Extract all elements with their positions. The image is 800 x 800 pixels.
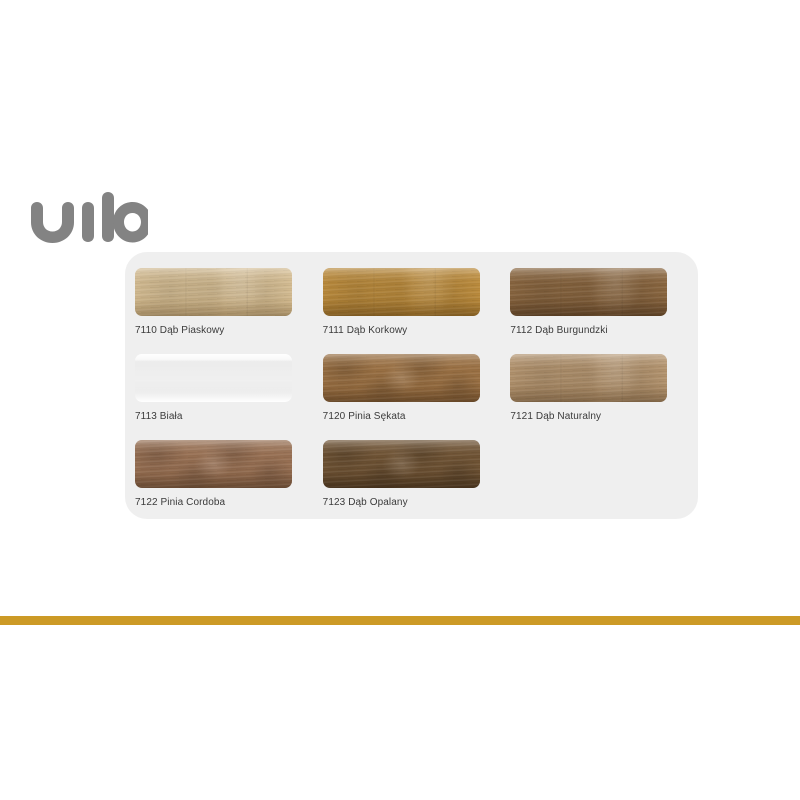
panel-sheen <box>510 354 667 402</box>
swatch-label-7120: 7120 Pinia Sękata <box>323 411 511 422</box>
swatch-label-7121: 7121 Dąb Naturalny <box>510 411 698 422</box>
swatch-chip-7113[interactable] <box>135 354 292 402</box>
swatch-chip-7111[interactable] <box>323 268 480 316</box>
swatch-chip-7120[interactable] <box>323 354 480 402</box>
swatch-chip-7112[interactable] <box>510 268 667 316</box>
panel-sheen <box>323 354 480 402</box>
swatch-label-7110: 7110 Dąb Piaskowy <box>135 325 323 336</box>
swatch-label-7123: 7123 Dąb Opalany <box>323 497 511 508</box>
swatch-cell-7121[interactable]: 7121 Dąb Naturalny <box>510 354 698 440</box>
swatch-label-7111: 7111 Dąb Korkowy <box>323 325 511 336</box>
vilo-logo <box>28 192 148 254</box>
swatch-chip-7110[interactable] <box>135 268 292 316</box>
swatch-cell-7110[interactable]: 7110 Dąb Piaskowy <box>135 268 323 354</box>
vilo-logo-wordmark <box>28 192 148 254</box>
swatch-cell-7112[interactable]: 7112 Dąb Burgundzki <box>510 268 698 354</box>
swatch-row: 7122 Pinia Cordoba 7123 Dąb Opalany <box>135 440 698 526</box>
panel-sheen <box>135 440 292 488</box>
swatch-label-7112: 7112 Dąb Burgundzki <box>510 325 698 336</box>
gloss-sheen <box>135 354 292 402</box>
swatch-cell-7111[interactable]: 7111 Dąb Korkowy <box>323 268 511 354</box>
swatch-row: 7113 Biała 7120 Pinia Sękata 7121 Dąb Na… <box>135 354 698 440</box>
swatch-cell-7113[interactable]: 7113 Biała <box>135 354 323 440</box>
swatch-cell-7120[interactable]: 7120 Pinia Sękata <box>323 354 511 440</box>
swatch-label-7113: 7113 Biała <box>135 411 323 422</box>
swatch-chip-7121[interactable] <box>510 354 667 402</box>
swatch-label-7122: 7122 Pinia Cordoba <box>135 497 323 508</box>
swatch-chip-7122[interactable] <box>135 440 292 488</box>
panel-sheen <box>135 268 292 316</box>
panel-sheen <box>510 268 667 316</box>
swatch-cell-empty <box>510 440 698 526</box>
swatch-cell-7122[interactable]: 7122 Pinia Cordoba <box>135 440 323 526</box>
swatch-cell-7123[interactable]: 7123 Dąb Opalany <box>323 440 511 526</box>
swatch-panel: 7110 Dąb Piaskowy 7111 Dąb Korkowy <box>125 252 698 519</box>
swatch-grid: 7110 Dąb Piaskowy 7111 Dąb Korkowy <box>135 268 698 526</box>
gold-divider-bar <box>0 616 800 625</box>
panel-sheen <box>323 268 480 316</box>
swatch-chip-7123[interactable] <box>323 440 480 488</box>
swatch-row: 7110 Dąb Piaskowy 7111 Dąb Korkowy <box>135 268 698 354</box>
panel-sheen <box>323 440 480 488</box>
